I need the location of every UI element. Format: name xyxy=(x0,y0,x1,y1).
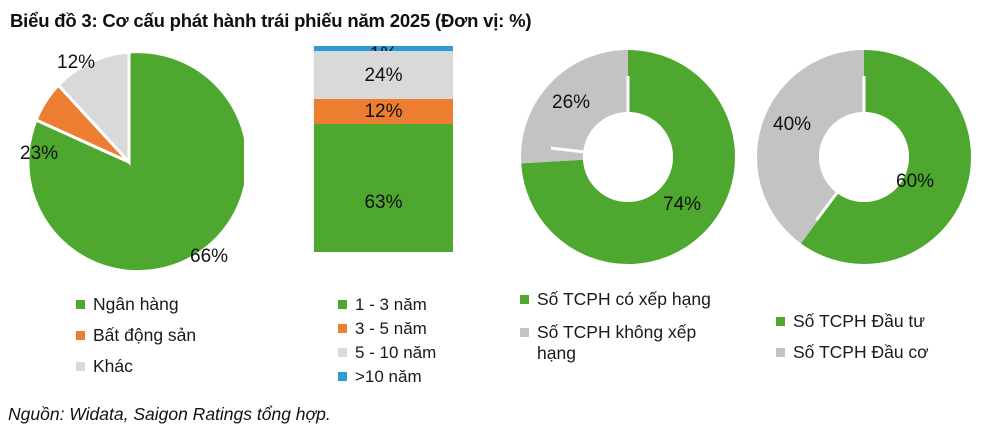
source-note: Nguồn: Widata, Saigon Ratings tổng hợp. xyxy=(8,404,331,425)
donut-hole xyxy=(583,112,673,202)
legend-swatch-orange-icon xyxy=(338,324,347,333)
chart-panel-investment-donut: 60% 40% Số TCPH Đầu tư Số TCPH Đầu cơ xyxy=(757,46,997,268)
legend-swatch-gray-icon xyxy=(76,362,85,371)
legend-label: Khác xyxy=(93,356,133,377)
bar-segment-label: 12% xyxy=(364,102,402,121)
legend-swatch-green-icon xyxy=(776,317,785,326)
legend-sector: Ngân hàng Bất động sản Khác xyxy=(76,294,196,387)
legend-item[interactable]: Số TCPH không xếp hạng xyxy=(520,322,711,364)
legend-item[interactable]: Ngân hàng xyxy=(76,294,196,315)
legend-investment: Số TCPH Đầu tư Số TCPH Đầu cơ xyxy=(776,311,929,373)
legend-label: Ngân hàng xyxy=(93,294,179,315)
legend-label: Bất động sản xyxy=(93,325,196,346)
legend-swatch-orange-icon xyxy=(76,331,85,340)
legend-item[interactable]: Số TCPH có xếp hạng xyxy=(520,289,711,310)
pie-label-bat-dong-san: 23% xyxy=(20,143,58,165)
donut-label-co-xep-hang: 74% xyxy=(663,194,701,216)
legend-swatch-green-icon xyxy=(76,300,85,309)
page-title: Biểu đồ 3: Cơ cấu phát hành trái phiếu n… xyxy=(10,10,531,32)
donut-svg-investment xyxy=(757,46,972,268)
legend-label: Số TCPH có xếp hạng xyxy=(537,289,711,310)
legend-label: 5 - 10 năm xyxy=(355,342,436,363)
legend-label: 1 - 3 năm xyxy=(355,294,427,315)
donut-chart-rating: 74% 26% xyxy=(521,46,736,268)
bar-segment-label: 63% xyxy=(364,193,402,212)
chart-panel-rating-donut: 74% 26% Số TCPH có xếp hạng Số TCPH khôn… xyxy=(521,46,751,268)
bar-segment-5-10-nam: 24% xyxy=(314,51,453,99)
chart-panel-sector-pie: 66% 23% 12% Ngân hàng Bất động sản Khác xyxy=(14,46,289,278)
legend-swatch-gray-icon xyxy=(520,328,529,337)
donut-svg-rating xyxy=(521,46,736,268)
legend-item[interactable]: 1 - 3 năm xyxy=(338,294,436,315)
stacked-bar-chart-tenor: 1% 24% 12% 63% xyxy=(313,46,458,271)
legend-label: Số TCPH Đầu cơ xyxy=(793,342,929,363)
legend-label: 3 - 5 năm xyxy=(355,318,427,339)
pie-chart-sector: 66% 23% 12% xyxy=(14,46,244,278)
pie-label-khac: 12% xyxy=(57,52,95,74)
legend-swatch-gray-icon xyxy=(776,348,785,357)
bar-segment-label: 24% xyxy=(364,66,402,85)
legend-item[interactable]: >10 năm xyxy=(338,366,436,387)
legend-swatch-blue-icon xyxy=(338,372,347,381)
legend-tenor: 1 - 3 năm 3 - 5 năm 5 - 10 năm >10 năm xyxy=(338,294,436,390)
donut-label-khong-xep-hang: 26% xyxy=(552,92,590,114)
legend-swatch-green-icon xyxy=(520,295,529,304)
legend-item[interactable]: Số TCPH Đầu tư xyxy=(776,311,929,332)
donut-label-dau-co: 40% xyxy=(773,114,811,136)
legend-swatch-green-icon xyxy=(338,300,347,309)
legend-item[interactable]: 3 - 5 năm xyxy=(338,318,436,339)
legend-item[interactable]: Số TCPH Đầu cơ xyxy=(776,342,929,363)
stacked-bar-column: 1% 24% 12% 63% xyxy=(313,46,453,252)
bar-segment-3-5-nam: 12% xyxy=(314,99,453,124)
pie-label-ngan-hang: 66% xyxy=(190,246,228,268)
legend-label: >10 năm xyxy=(355,366,422,387)
legend-rating: Số TCPH có xếp hạng Số TCPH không xếp hạ… xyxy=(520,289,711,376)
chart-panel-tenor-bar: 1% 24% 12% 63% 1 - 3 năm 3 - 5 năm 5 - 1… xyxy=(313,46,513,271)
legend-item[interactable]: 5 - 10 năm xyxy=(338,342,436,363)
legend-item[interactable]: Khác xyxy=(76,356,196,377)
bar-segment-1-3-nam: 63% xyxy=(314,124,453,252)
legend-swatch-gray-icon xyxy=(338,348,347,357)
legend-label: Số TCPH không xếp hạng xyxy=(537,322,696,364)
donut-chart-investment: 60% 40% xyxy=(757,46,972,268)
legend-item[interactable]: Bất động sản xyxy=(76,325,196,346)
legend-label: Số TCPH Đầu tư xyxy=(793,311,925,332)
donut-label-dau-tu: 60% xyxy=(896,171,934,193)
